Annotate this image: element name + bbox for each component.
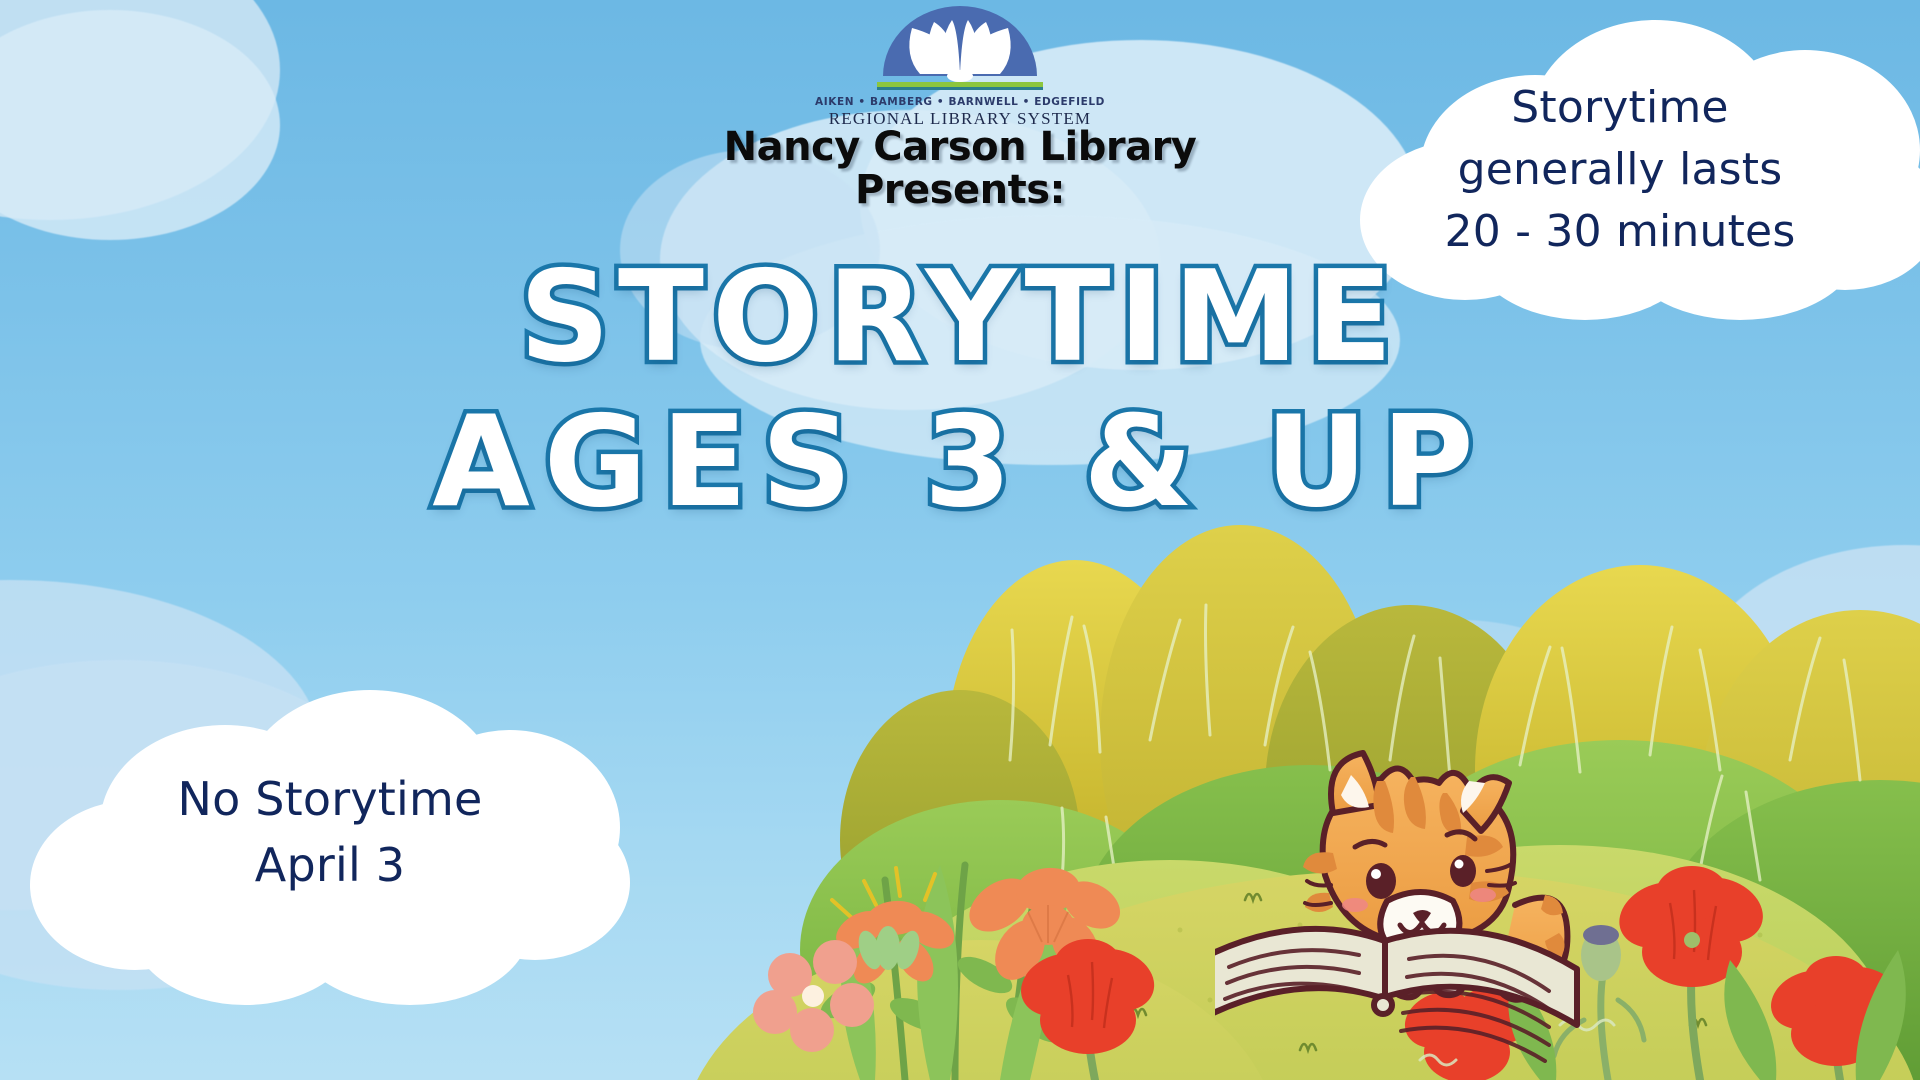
page-title: STORYTIME AGES 3 & UP (0, 255, 1920, 524)
cat-reading-book-illustration (1215, 705, 1655, 1080)
no-storytime-cloud: No Storytime April 3 (20, 690, 640, 990)
no-storytime-line-2: April 3 (20, 838, 640, 892)
storytime-poster: AIKEN • BAMBERG • BARNWELL • EDGEFIELD R… (0, 0, 1920, 1080)
presenter-text: Nancy Carson Library Presents: (510, 126, 1410, 212)
presenter-line-2: Presents: (510, 169, 1410, 212)
no-storytime-line-1: No Storytime (20, 772, 640, 826)
presenter-line-1: Nancy Carson Library (510, 126, 1410, 169)
logo-counties-line: AIKEN • BAMBERG • BARNWELL • EDGEFIELD (810, 96, 1110, 108)
title-line-ages: AGES 3 & UP (0, 400, 1920, 523)
title-line-storytime: STORYTIME (0, 255, 1920, 378)
duration-line-1: Storytime (1320, 82, 1920, 133)
duration-line-3: 20 - 30 minutes (1320, 206, 1920, 257)
library-logo: AIKEN • BAMBERG • BARNWELL • EDGEFIELD R… (810, 4, 1110, 129)
open-book-icon (867, 4, 1053, 96)
duration-line-2: generally lasts (1320, 144, 1920, 195)
